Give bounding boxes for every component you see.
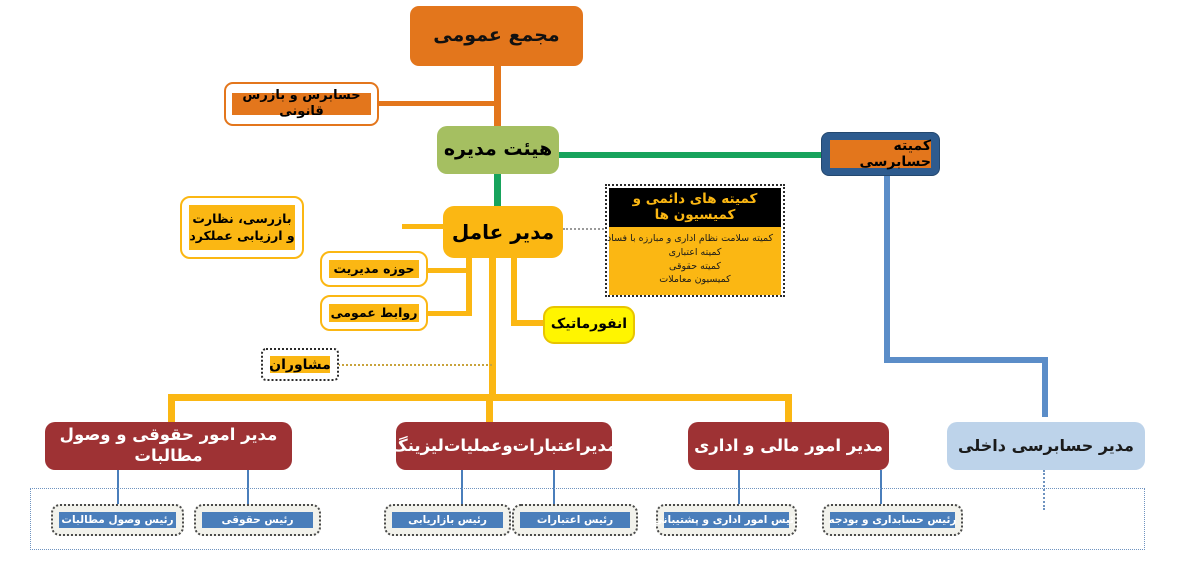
node-head-admin-support[interactable]: رئیس امور اداری و پشتیبانی	[656, 504, 797, 536]
connector-auditor-horizontal	[377, 101, 497, 106]
node-head-admin-support-label: رئیس امور اداری و پشتیبانی	[664, 512, 789, 528]
node-advisors-label: مشاوران	[270, 356, 330, 373]
list-item: کمیته سلامت نظام اداری و مبارزه با فساد	[617, 232, 773, 246]
list-item: کمیسیون معاملات	[617, 273, 773, 287]
node-general-assembly[interactable]: مجمع عمومی	[410, 6, 583, 66]
node-public-relations[interactable]: روابط عمومی	[320, 295, 428, 331]
panel-permanent-committees: کمیته های دائمی و کمیسیون ها کمیته سلامت…	[605, 184, 785, 297]
node-head-accounting-budget[interactable]: رئیس حسابداری و بودجه	[822, 504, 963, 536]
node-head-marketing[interactable]: رئیس بازاریابی	[384, 504, 511, 536]
node-head-marketing-label: رئیس بازاریابی	[392, 512, 503, 528]
connector-assembly-down	[494, 64, 501, 130]
node-statutory-auditor-label: حسابرس و بازرس قانونی	[232, 93, 371, 115]
node-manager-legal-collections[interactable]: مدیر امور حقوقی و وصول مطالبات	[45, 422, 292, 470]
connector-informatics-elbow-h	[511, 320, 547, 326]
node-audit-committee[interactable]: کمیته حسابرسی	[821, 132, 940, 176]
connector-auditcom-right	[884, 357, 1048, 363]
node-advisors[interactable]: مشاوران	[261, 348, 339, 381]
node-inspection-unit-label: بازرسی، نظارت و ارزیابی عملکرد	[189, 205, 295, 250]
node-head-legal-label: رئیس حقوقی	[202, 512, 313, 528]
node-head-credits[interactable]: رئیس اعتبارات	[512, 504, 638, 536]
org-chart-canvas: مجمع عمومی حسابرس و بازرس قانونی هیئت مد…	[0, 0, 1186, 564]
connector-manager-bus	[168, 394, 792, 401]
node-head-accounting-budget-label: رئیس حسابداری و بودجه	[830, 512, 955, 528]
node-manager-credit-leasing[interactable]: مدیراعتبارات‌وعملیات‌لیزینگ	[396, 422, 612, 470]
node-head-collections[interactable]: رئیس وصول مطالبات	[51, 504, 184, 536]
connector-manager-drop-finance	[785, 394, 792, 424]
connector-auditcom-down	[884, 176, 890, 360]
node-manager-finance-admin[interactable]: مدیر امور مالی و اداری	[688, 422, 889, 470]
connector-internal-audit-down	[1042, 357, 1048, 417]
connector-staff-spine	[466, 256, 472, 316]
node-management-area-label: حوزه مدیریت	[329, 260, 419, 278]
connector-public-relations-horizontal	[427, 311, 472, 316]
node-inspection-unit[interactable]: بازرسی، نظارت و ارزیابی عملکرد	[180, 196, 304, 259]
connector-manager-drop-credit	[486, 394, 493, 424]
connector-advisors-dotted	[330, 364, 492, 366]
node-ceo[interactable]: مدیر عامل	[443, 206, 563, 258]
connector-board-audit-committee	[558, 152, 823, 158]
list-item: کمیته حقوقی	[617, 260, 773, 274]
node-management-area[interactable]: حوزه مدیریت	[320, 251, 428, 287]
list-item: کمیته اعتباری	[617, 246, 773, 260]
node-head-credits-label: رئیس اعتبارات	[520, 512, 630, 528]
node-internal-audit-director[interactable]: مدیر حسابرسی داخلی	[947, 422, 1145, 470]
node-audit-committee-label: کمیته حسابرسی	[830, 140, 931, 168]
node-head-collections-label: رئیس وصول مطالبات	[59, 512, 176, 528]
connector-management-area-horizontal	[427, 268, 469, 273]
node-informatics[interactable]: انفورماتیک	[543, 306, 635, 344]
connector-manager-drop-legal	[168, 394, 175, 424]
panel-committees-title: کمیته های دائمی و کمیسیون ها	[609, 188, 781, 227]
connector-informatics-elbow-v	[511, 256, 517, 324]
connector-committees-dotted	[563, 228, 608, 230]
node-public-relations-label: روابط عمومی	[329, 304, 419, 322]
node-statutory-auditor[interactable]: حسابرس و بازرس قانونی	[224, 82, 379, 126]
panel-committees-list: کمیته سلامت نظام اداری و مبارزه با فساد …	[609, 227, 781, 295]
node-head-legal[interactable]: رئیس حقوقی	[194, 504, 321, 536]
connector-ceo-spine	[489, 256, 496, 396]
node-board-of-directors[interactable]: هیئت مدیره	[437, 126, 559, 174]
